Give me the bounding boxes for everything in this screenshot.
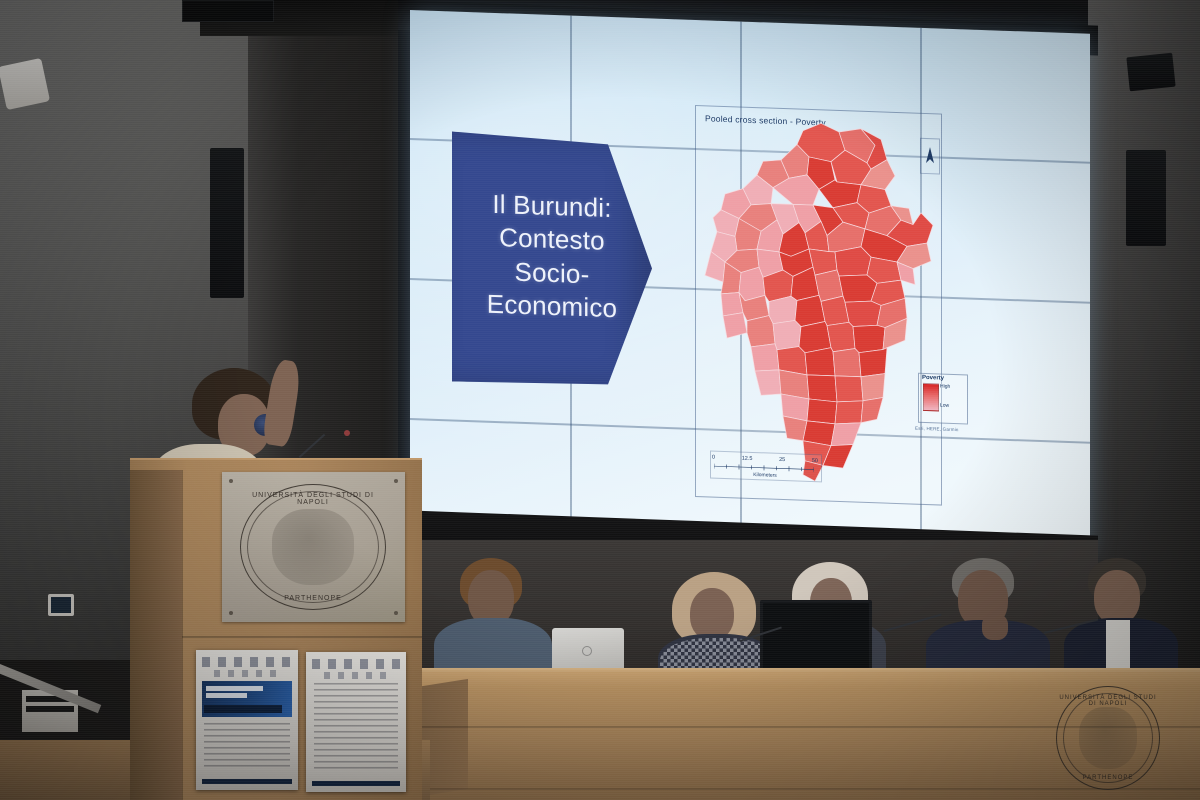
panelist-4 — [930, 558, 1050, 678]
podium-seal-arc-bottom: PARTHENOPE — [240, 595, 386, 602]
plaque-screw — [394, 479, 398, 483]
plaque-screw — [229, 611, 233, 615]
podium-left-face — [130, 470, 182, 800]
vent-slat — [26, 706, 74, 712]
panelist-5 — [1066, 558, 1176, 678]
podium-university-seal: UNIVERSITÀ DEGLI STUDI DI NAPOLI PARTHEN… — [240, 484, 386, 610]
legend-title: Poverty — [922, 375, 944, 382]
monitor-screen — [763, 603, 869, 669]
podium-seam — [182, 636, 422, 638]
poster-headline-line-2 — [206, 693, 247, 698]
hand-on-chin — [982, 614, 1008, 640]
monitor[interactable] — [760, 600, 872, 672]
plaque-screw — [229, 479, 233, 483]
burundi-choropleth-map — [695, 105, 940, 504]
siren-emblem-icon — [272, 509, 354, 585]
legend-high-label: High — [940, 384, 950, 390]
scalebar-tick-1: 12.5 — [742, 456, 753, 462]
north-arrow-icon — [920, 138, 940, 175]
podium-seam — [182, 470, 183, 800]
panelist-2 — [660, 572, 770, 682]
ceiling-monitor — [182, 0, 274, 22]
panelist-1 — [432, 558, 552, 678]
scalebar-tick-3: 50 — [812, 458, 818, 464]
desk-university-seal: UNIVERSITÀ DEGLI STUDI DI NAPOLI PARTHEN… — [1056, 686, 1160, 790]
event-poster-right — [306, 652, 406, 792]
wall-speaker-right-upper — [1126, 53, 1175, 92]
desk-seam — [398, 788, 1200, 790]
desk-seal-arc-bottom: PARTHENOPE — [1056, 775, 1160, 781]
head — [690, 588, 734, 640]
wall-speaker-left — [210, 148, 244, 298]
slide-title: Il Burundi: Contesto Socio- Economico — [454, 187, 650, 327]
head — [1094, 570, 1140, 624]
poster-logo-row-2 — [324, 672, 386, 679]
laptop-logo-icon — [582, 646, 592, 656]
legend-low-label: Low — [940, 403, 949, 409]
poster-logo-row — [202, 657, 292, 667]
poster-headline-line-1 — [206, 686, 263, 691]
scalebar-tick-2: 25 — [779, 457, 785, 463]
conference-hall-scene: Il Burundi: Contesto Socio- Economico Po… — [0, 0, 1200, 800]
videowall-screen[interactable]: Il Burundi: Contesto Socio- Economico Po… — [410, 10, 1090, 554]
poster-logo-row — [312, 659, 400, 669]
plaque-screw — [394, 611, 398, 615]
poster-footer-bar — [202, 779, 292, 785]
podium-plaque: UNIVERSITÀ DEGLI STUDI DI NAPOLI PARTHEN… — [222, 472, 405, 622]
slide-title-line-4: Economico — [454, 286, 650, 326]
spotlight-fixture — [0, 58, 50, 110]
legend-color-ramp — [923, 383, 939, 412]
wall-thermostat[interactable] — [48, 594, 74, 616]
wall-speaker-right — [1126, 150, 1166, 246]
poster-body-text — [204, 723, 290, 771]
podium-mic-head — [344, 430, 350, 436]
thermostat-display — [51, 597, 71, 613]
event-poster-left — [196, 650, 298, 790]
poster-footer-bar — [312, 781, 400, 787]
poster-logo-row-2 — [214, 670, 277, 677]
poster-subheader-bar — [204, 705, 282, 713]
podium-seal-arc-top: UNIVERSITÀ DEGLI STUDI DI NAPOLI — [240, 492, 386, 506]
scalebar-tick-0: 0 — [712, 455, 715, 461]
siren-emblem-icon — [1079, 707, 1137, 769]
speaker-raised-arm — [261, 358, 302, 447]
desk-seal-arc-top: UNIVERSITÀ DEGLI STUDI DI NAPOLI — [1056, 695, 1160, 707]
poster-body-text — [314, 683, 398, 770]
